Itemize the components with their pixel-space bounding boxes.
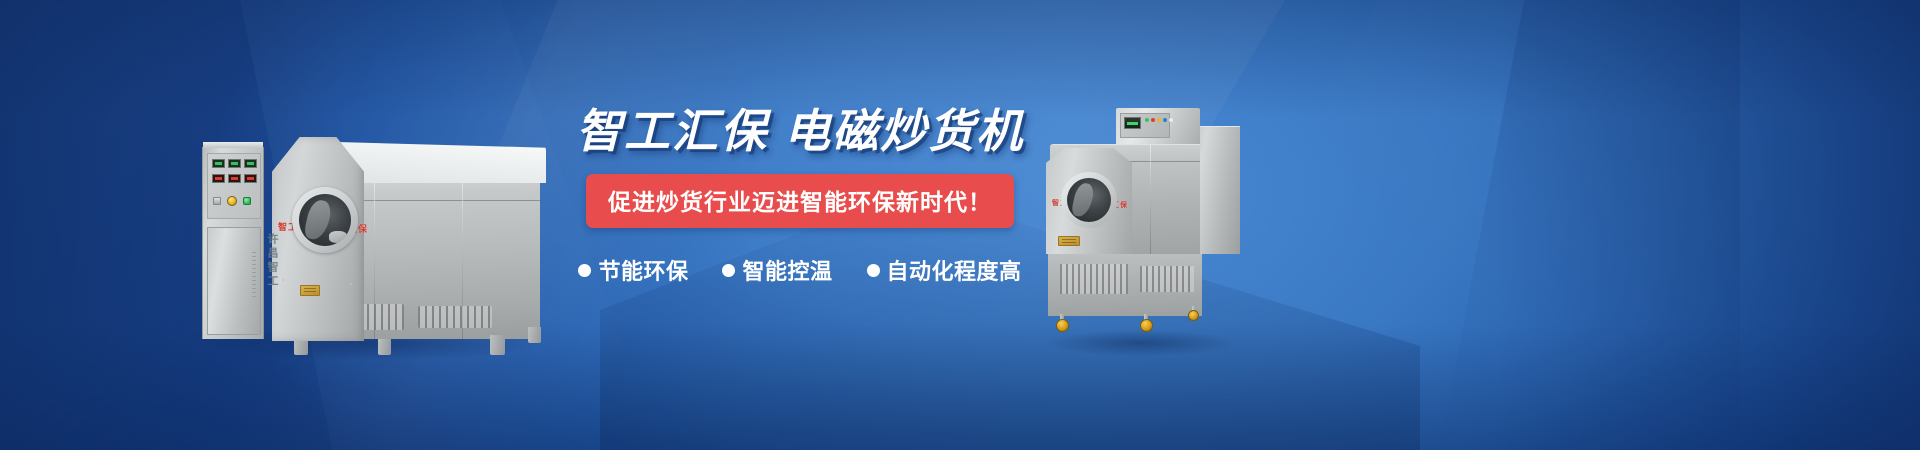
drum-opening	[1067, 178, 1111, 222]
body-vent-grille	[1060, 264, 1128, 294]
meter-display	[212, 159, 225, 168]
button-red-icon[interactable]	[1151, 118, 1155, 122]
control-knob-row[interactable]	[213, 196, 259, 206]
rivet	[282, 279, 284, 281]
rivet	[456, 208, 458, 210]
feature-item-2: 智能控温	[722, 254, 832, 286]
drum-blade	[329, 231, 347, 243]
caster-wheel	[1188, 310, 1199, 321]
selector-switch-icon[interactable]	[213, 197, 221, 205]
meter-row-top	[212, 159, 258, 168]
cabinet-vent	[252, 252, 256, 298]
start-button-icon[interactable]	[243, 197, 251, 205]
control-button-row[interactable]	[1145, 118, 1173, 122]
machine-nameplate	[1058, 236, 1080, 246]
banner-text-block: 智工汇保电磁炒货机 促进炒货行业迈进智能环保新时代！ 节能环保 智能控温 自动化…	[565, 108, 1035, 286]
rivet	[398, 206, 400, 208]
control-panel-face	[207, 153, 261, 219]
dot-bullet-icon	[867, 264, 880, 277]
product-image-small-roaster: 智工 汇保	[1040, 108, 1240, 348]
product-hero-banner: 智工 汇保	[0, 0, 1920, 450]
machine-leg	[378, 339, 391, 355]
body-panel-divider	[1150, 145, 1151, 254]
emergency-knob-icon[interactable]	[227, 196, 237, 206]
dot-bullet-icon	[722, 264, 735, 277]
rivet	[350, 283, 352, 285]
body-vent-grille	[418, 306, 492, 328]
button-green-icon[interactable]	[1145, 118, 1149, 122]
digital-display	[244, 174, 257, 183]
meter-row-bottom	[212, 174, 258, 183]
machine-leg	[528, 327, 541, 343]
control-panel-face	[1120, 113, 1170, 138]
control-cabinet	[202, 147, 264, 339]
rivet	[514, 210, 516, 212]
feature-label: 自动化程度高	[887, 254, 1022, 286]
machine-lower-frame	[1048, 254, 1202, 316]
machine-leg	[490, 335, 505, 355]
body-vent-grille	[1140, 266, 1194, 292]
digital-display	[228, 174, 241, 183]
caster-wheel	[1056, 319, 1069, 332]
machine-ground-shadow	[1046, 330, 1236, 356]
machine-nameplate	[300, 285, 320, 296]
drum-blade	[1071, 182, 1096, 219]
control-cabinet	[1116, 108, 1200, 144]
digital-display	[1124, 117, 1141, 129]
button-blue-icon[interactable]	[1163, 118, 1167, 122]
dot-bullet-icon	[578, 264, 591, 277]
tagline-wrapper: 促进炒货行业迈进智能环保新时代！	[565, 174, 1035, 228]
machine-side-text: 许昌智工	[266, 233, 277, 289]
digital-display	[212, 174, 225, 183]
button-white-icon[interactable]	[1169, 118, 1173, 122]
headline-product: 电磁炒货机	[784, 105, 1024, 157]
headline-brand: 智工汇保	[576, 105, 768, 157]
page-title: 智工汇保电磁炒货机	[565, 108, 1035, 154]
tagline-badge: 促进炒货行业迈进智能环保新时代！	[586, 174, 1014, 228]
feature-label: 节能环保	[598, 254, 688, 286]
drum-opening	[299, 194, 351, 246]
cabinet-lower-door	[207, 227, 261, 335]
meter-display	[228, 159, 241, 168]
rivet	[316, 327, 318, 329]
feature-label: 智能控温	[742, 254, 832, 286]
feature-item-3: 自动化程度高	[867, 254, 1022, 286]
feature-item-1: 节能环保	[578, 254, 688, 286]
caster-wheel	[1140, 319, 1153, 332]
meter-display	[244, 159, 257, 168]
feature-list: 节能环保 智能控温 自动化程度高	[565, 254, 1035, 286]
button-yellow-icon[interactable]	[1157, 118, 1161, 122]
product-image-large-roaster: 智工 汇保	[190, 105, 550, 350]
